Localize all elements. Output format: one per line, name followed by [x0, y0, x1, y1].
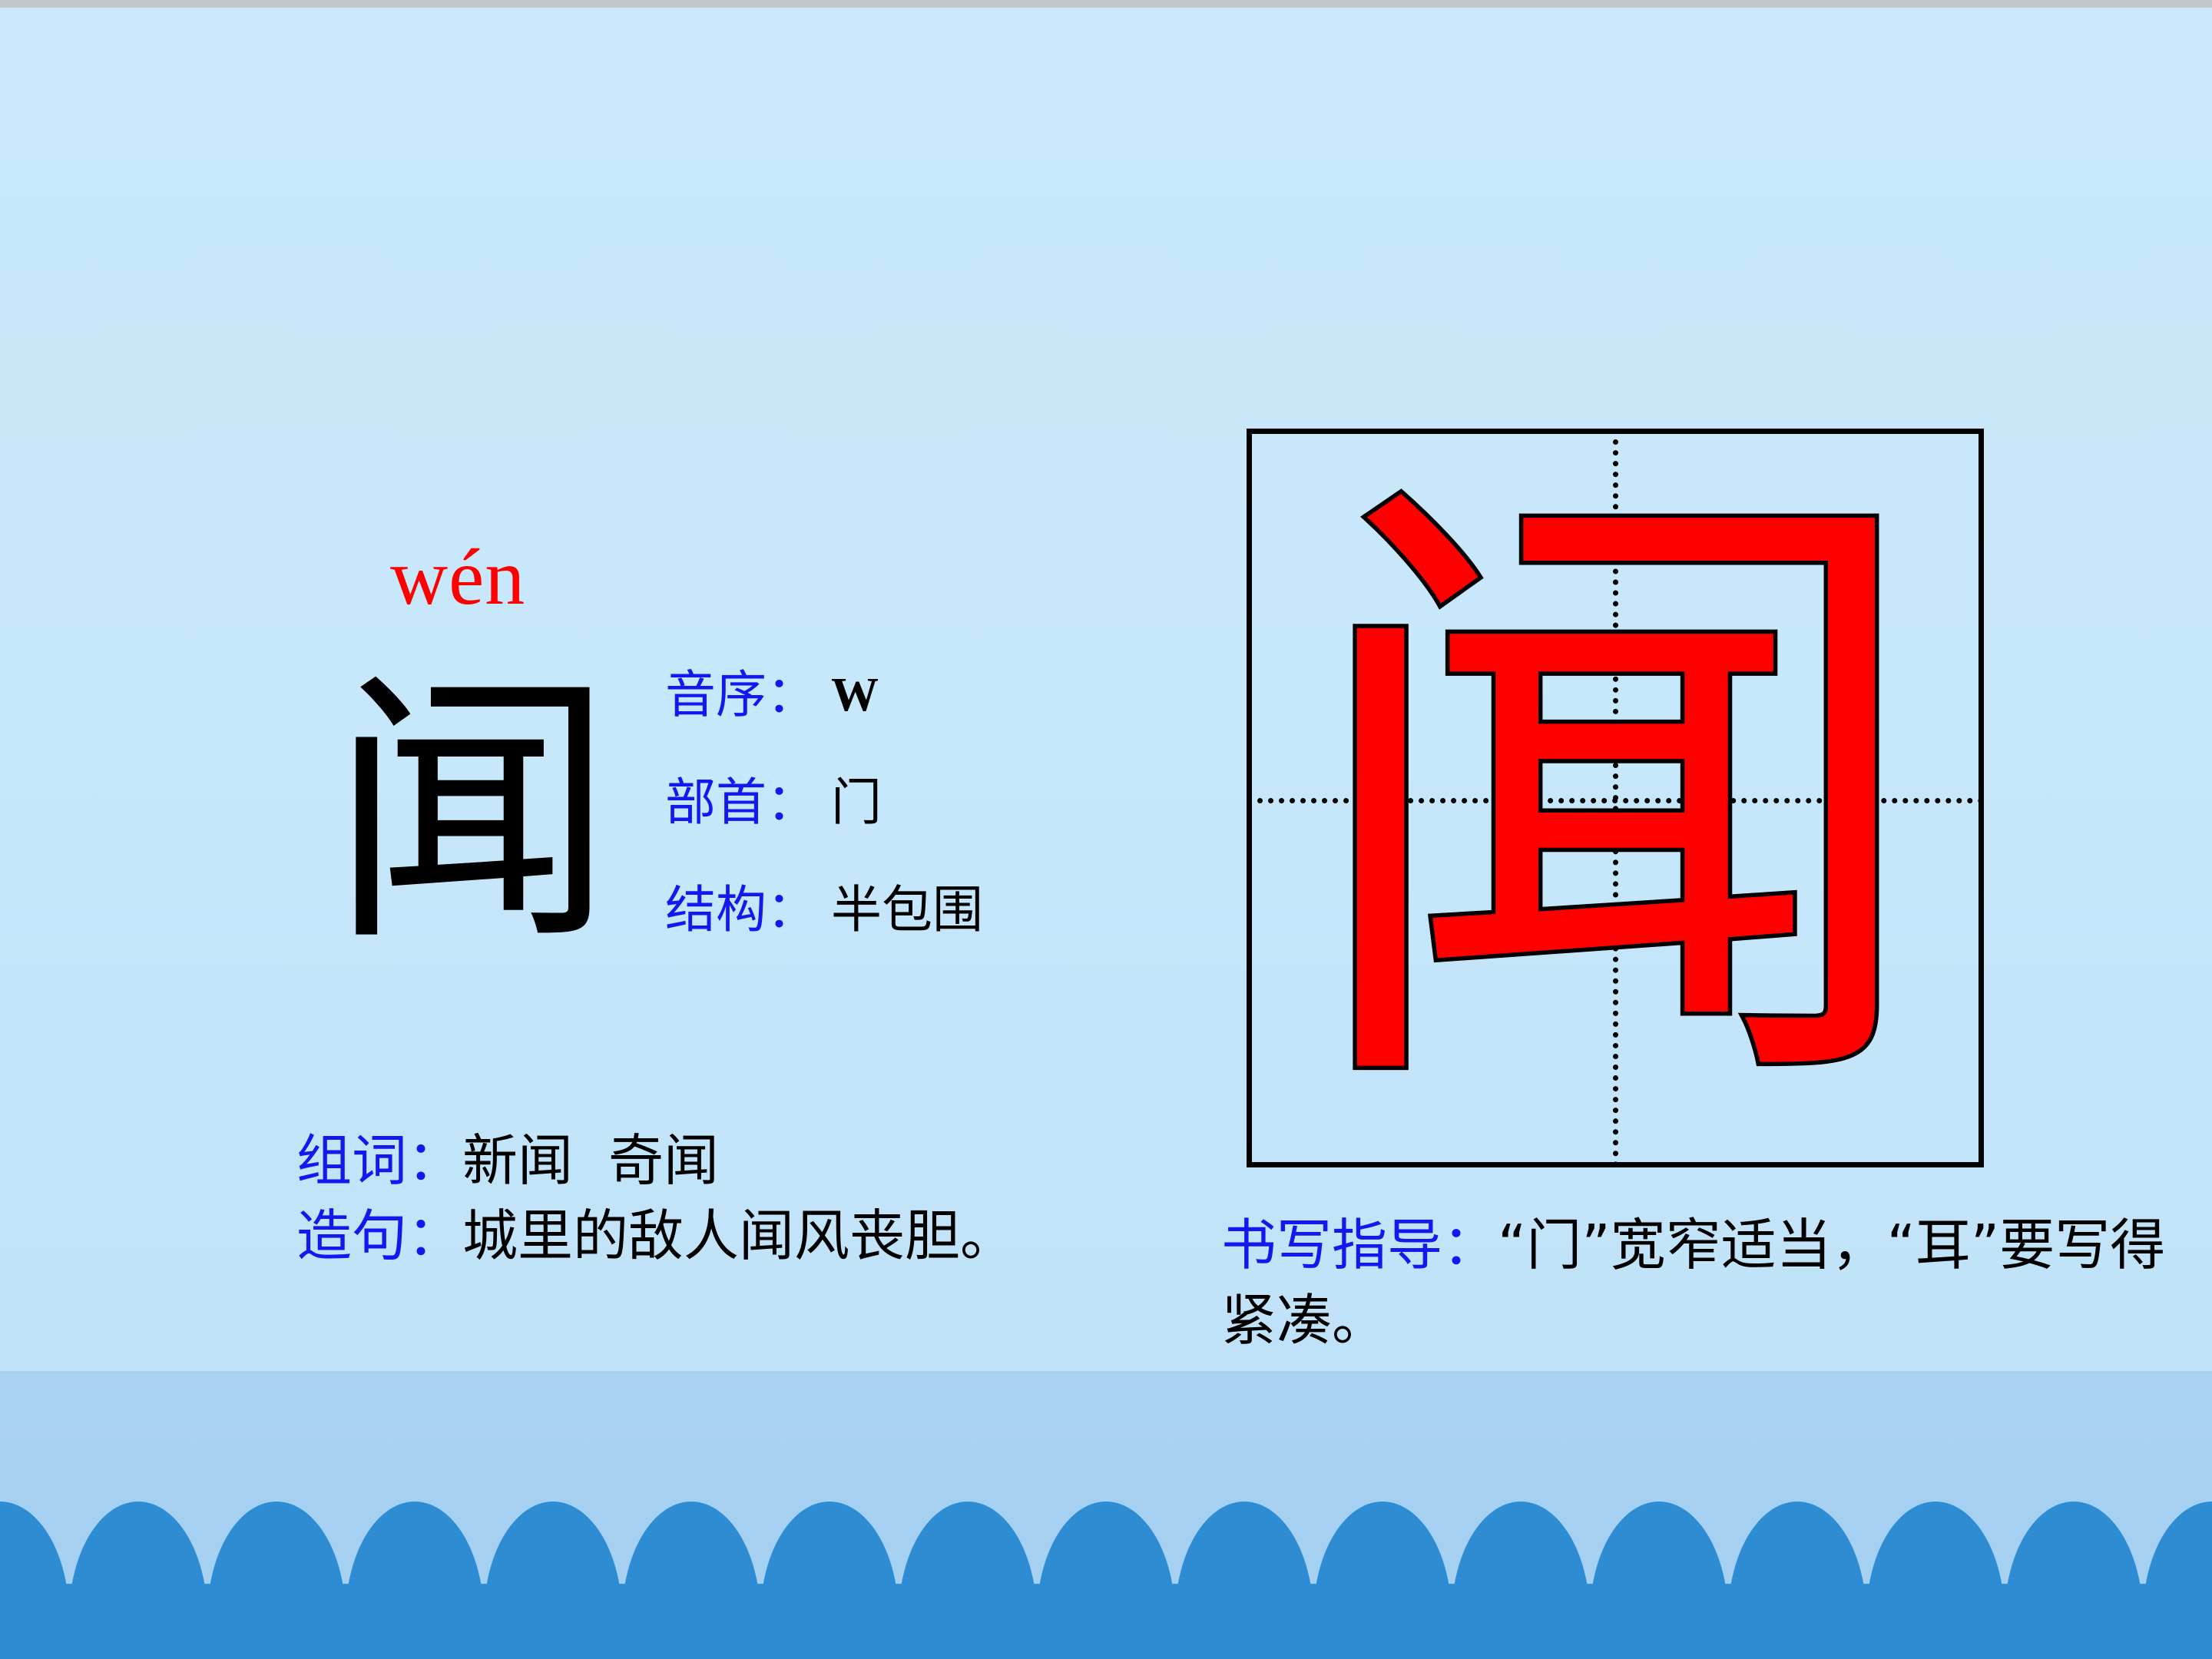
pinyin-text: wén — [390, 538, 525, 618]
info-row-jiegou: 结构： 半包围 — [665, 877, 1141, 985]
scallop-shape — [1244, 1584, 1382, 1659]
scallop-shape — [829, 1584, 968, 1659]
scallop-shape — [1659, 1584, 1797, 1659]
info-value-jiegou: 半包围 — [831, 877, 983, 943]
info-value-yinxu: W — [831, 662, 879, 728]
scallop-shape — [1797, 1584, 1936, 1659]
zuci-label: 组词： — [296, 1128, 462, 1193]
zaoju-label: 造句： — [296, 1204, 462, 1268]
info-value-bushou: 门 — [831, 770, 882, 836]
info-row-bushou: 部首： 门 — [665, 770, 1141, 877]
zuci-value-2: 奇闻 — [608, 1128, 719, 1193]
vocabulary-block: 组词：新闻奇闻 造句：城里的敌人闻风丧胆。 — [296, 1123, 1111, 1273]
scallop-shape — [1382, 1584, 1521, 1659]
tianzige-grid: 闻 — [1247, 429, 1984, 1167]
zaoju-line: 造句：城里的敌人闻风丧胆。 — [296, 1198, 1111, 1273]
zuci-value-1: 新闻 — [462, 1128, 573, 1193]
top-grey-bar — [0, 0, 2212, 8]
info-label-yinxu: 音序： — [665, 662, 817, 728]
scallop-shape — [691, 1584, 829, 1659]
scallop-shape — [2074, 1584, 2212, 1659]
scallop-shape — [0, 1584, 138, 1659]
scallop-row-front — [0, 1584, 2212, 1659]
scallop-shape — [1521, 1584, 1659, 1659]
zuci-line: 组词：新闻奇闻 — [296, 1123, 1111, 1198]
scallop-shape — [968, 1584, 1106, 1659]
scallop-shape — [553, 1584, 691, 1659]
slide-canvas: wén 闻 音序： W 部首： 门 结构： 半包围 组词：新闻奇闻 造句：城里的… — [0, 0, 2212, 1659]
scallop-shape — [276, 1584, 415, 1659]
headword-character: 闻 — [330, 661, 607, 968]
grid-character: 闻 — [1252, 434, 1979, 1162]
character-info-block: 音序： W 部首： 门 结构： 半包围 — [665, 662, 1141, 985]
info-label-jiegou: 结构： — [665, 877, 817, 943]
writing-guidance: 书写指导：“门”宽窄适当，“耳”要写得紧凑。 — [1221, 1207, 2208, 1358]
scallop-shape — [1106, 1584, 1244, 1659]
info-label-bushou: 部首： — [665, 770, 817, 836]
info-row-yinxu: 音序： W — [665, 662, 1141, 770]
scallop-shape — [1936, 1584, 2074, 1659]
scallop-shape — [138, 1584, 276, 1659]
guidance-label: 书写指导： — [1221, 1213, 1498, 1277]
zaoju-value: 城里的敌人闻风丧胆。 — [462, 1204, 1015, 1268]
scallop-shape — [415, 1584, 553, 1659]
